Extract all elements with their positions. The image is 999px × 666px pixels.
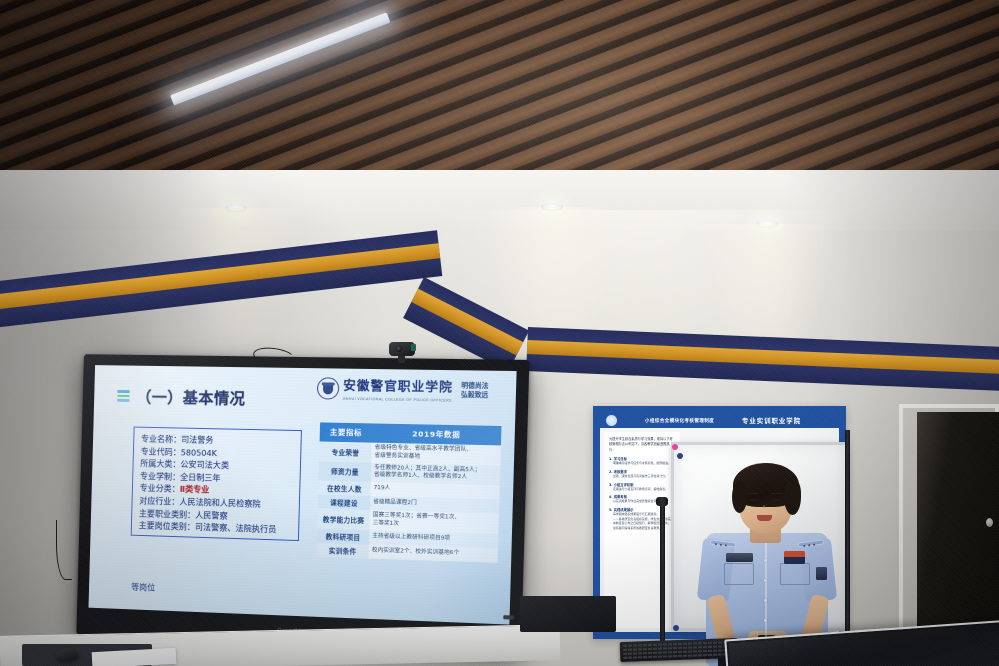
poster-item: 3. 小组互评机制定期进行小组互评与教师点评，留档备查。 (609, 482, 675, 492)
poster-banner-small-text: 小组综合全模块化考核管理制度 (645, 418, 714, 424)
program-info-box: 专业名称：司法警务 专业代码：580504K 所属大类：公安司法大类 专业学制：… (131, 427, 302, 541)
school-motto: 明德尚法 弘毅致远 (461, 382, 489, 401)
webcam-indicator (411, 344, 416, 351)
motto-line-2: 弘毅致远 (461, 391, 488, 401)
hair-side-left (732, 481, 747, 513)
display-cable-left (56, 520, 72, 580)
classification-label: 专业分类： (140, 483, 180, 494)
school-brand: 安徽警官职业学院 ANHUI VOCATIONAL COLLEGE OF POL… (317, 376, 489, 403)
shoulder-patch (816, 567, 827, 580)
info-line-overflow: 等岗位 (131, 581, 155, 594)
classroom-scene: 小组综合全模块化考核管理制度 专业实训职业学院 为提升学生综合素质与学习效果，现… (0, 0, 999, 666)
poster-item: 2. 考核要求出勤、课堂表现与实训操作三项合并计分。 (609, 469, 675, 479)
school-name-cn: 安徽警官职业学院 (343, 378, 453, 395)
door-handle-icon[interactable] (986, 518, 993, 527)
table-header-cell: 主要指标 (320, 422, 373, 442)
desktop-monitor-back (520, 596, 616, 632)
table-cell-value: 校内实训室2个、校外实训基地6个 (369, 544, 498, 562)
poster-crest-icon (606, 415, 617, 426)
table-cell-key: 课程建设 (318, 495, 371, 511)
poster-item: 5. 实践成果展示每学期末组织成果展示与汇报答辩。 (609, 507, 675, 517)
mouse[interactable] (56, 648, 78, 661)
presentation-slide: （一）基本情况 安徽警官职业学院 ANHUI VOCATIONAL COLLEG… (89, 365, 517, 624)
poster-heading: 为提升学生综合素质与学习效果，现将以下考核管理办法公布如下，请各教学班级遵照执行… (609, 437, 675, 453)
nose (763, 505, 765, 508)
shirt-button (764, 619, 767, 622)
poster-banner-large-text: 专业实训职业学院 (742, 416, 801, 425)
display-ir-sensor (503, 615, 514, 619)
metrics-table: 主要指标 2019年数据 专业荣誉 省级特色专业、省级高水平教学团队、 省级警务… (316, 422, 501, 562)
webcam[interactable] (387, 340, 427, 364)
magnet-pink[interactable] (672, 444, 678, 450)
chest-badge-emblem (784, 551, 805, 564)
webcam-lens-icon (395, 345, 403, 353)
table-cell-key: 实训条件 (316, 542, 369, 558)
slide-title-row: （一）基本情况 (117, 385, 246, 409)
chest-pocket-right (780, 563, 810, 585)
papers[interactable] (92, 648, 177, 666)
display-screen[interactable]: （一）基本情况 安徽警官职业学院 ANHUI VOCATIONAL COLLEG… (89, 365, 517, 624)
mic-stand-pole (660, 502, 665, 644)
keyboard[interactable] (620, 638, 739, 662)
poster-banner: 小组综合全模块化考核管理制度 专业实训职业学院 (600, 413, 839, 428)
table-cell-key: 在校生人数 (318, 481, 371, 496)
school-name-block: 安徽警官职业学院 ANHUI VOCATIONAL COLLEGE OF POL… (343, 377, 453, 403)
shirt-button (764, 559, 767, 562)
interactive-display[interactable]: （一）基本情况 安徽警官职业学院 ANHUI VOCATIONAL COLLEG… (76, 354, 529, 654)
magnet-blue-lower[interactable] (673, 625, 679, 631)
motto-line-1: 明德尚法 (461, 382, 488, 391)
poster-item: 1. 学习目标明确本阶段学习任务与考核标准，按周推进。 (609, 456, 675, 466)
mouth (757, 515, 772, 521)
table-cell-key: 教学能力比赛 (317, 509, 370, 530)
title-accent-bars-icon (117, 390, 130, 402)
slide-title: （一）基本情况 (136, 385, 246, 409)
hair-side-right (784, 479, 801, 515)
chest-pocket-left (724, 563, 754, 585)
eye-left (749, 499, 759, 501)
table-cell-key: 专业荣誉 (319, 441, 372, 462)
magnet-blue[interactable] (677, 453, 683, 459)
table-cell-key: 师资力量 (319, 461, 372, 482)
school-name-en: ANHUI VOCATIONAL COLLEGE OF POLICE OFFIC… (343, 397, 453, 403)
shirt-button (764, 579, 767, 582)
mic-stand-head (656, 497, 668, 506)
school-crest-icon (317, 377, 340, 399)
poster-item: 如有疑问请联系所属教研室负责教师。 (609, 526, 675, 531)
chest-badge-name (726, 553, 753, 562)
classification-value: Ⅱ类专业 (180, 484, 210, 495)
eye-right (772, 499, 782, 501)
shirt-button (764, 599, 767, 602)
